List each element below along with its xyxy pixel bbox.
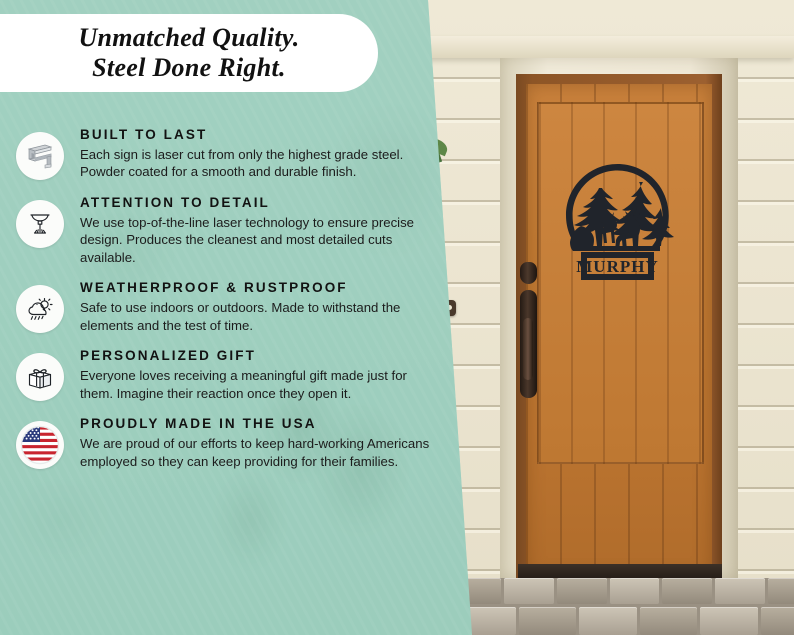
headline-line-2: Steel Done Right.	[78, 53, 299, 83]
feature-list: BUILT TO LAST Each sign is laser cut fro…	[16, 126, 456, 483]
feature-title: PERSONALIZED GIFT	[80, 349, 430, 364]
feature-body: We are proud of our efforts to keep hard…	[80, 435, 430, 470]
door-header-beam	[408, 36, 794, 58]
feature-title: ATTENTION TO DETAIL	[80, 196, 430, 211]
feature-item-built-to-last: BUILT TO LAST Each sign is laser cut fro…	[16, 126, 456, 181]
laser-cutter-icon	[16, 200, 64, 248]
headline-line-1: Unmatched Quality.	[78, 23, 299, 53]
feature-body: Safe to use indoors or outdoors. Made to…	[80, 299, 430, 334]
feature-title: WEATHERPROOF & RUSTPROOF	[80, 281, 430, 296]
steel-ibeam-icon	[16, 132, 64, 180]
feature-title: PROUDLY MADE IN THE USA	[80, 417, 430, 432]
sun-cloud-rain-icon	[16, 285, 64, 333]
feature-item-personalized-gift: PERSONALIZED GIFT Everyone loves receivi…	[16, 347, 456, 402]
feature-item-made-in-usa: PROUDLY MADE IN THE USA We are proud of …	[16, 415, 456, 470]
feature-body: Everyone loves receiving a meaningful gi…	[80, 367, 430, 402]
deadbolt-icon	[520, 262, 537, 284]
feature-item-attention-to-detail: ATTENTION TO DETAIL We use top-of-the-li…	[16, 194, 456, 266]
feature-body: We use top-of-the-line laser technology …	[80, 214, 430, 267]
feature-item-weatherproof: WEATHERPROOF & RUSTPROOF Safe to use ind…	[16, 279, 456, 334]
metal-monogram-sign: MURPHY	[551, 160, 684, 296]
door-handle-grip	[523, 318, 533, 380]
gift-box-icon	[16, 353, 64, 401]
infographic-canvas: MURPHY Unmatched Quality. Steel Done Rig…	[0, 0, 794, 635]
feature-title: BUILT TO LAST	[80, 128, 430, 143]
sign-name-text: MURPHY	[576, 257, 658, 276]
product-photo: MURPHY	[408, 0, 794, 635]
headline-banner: Unmatched Quality. Steel Done Right.	[0, 14, 378, 92]
usa-flag-icon	[16, 421, 64, 469]
feature-body: Each sign is laser cut from only the hig…	[80, 146, 430, 181]
